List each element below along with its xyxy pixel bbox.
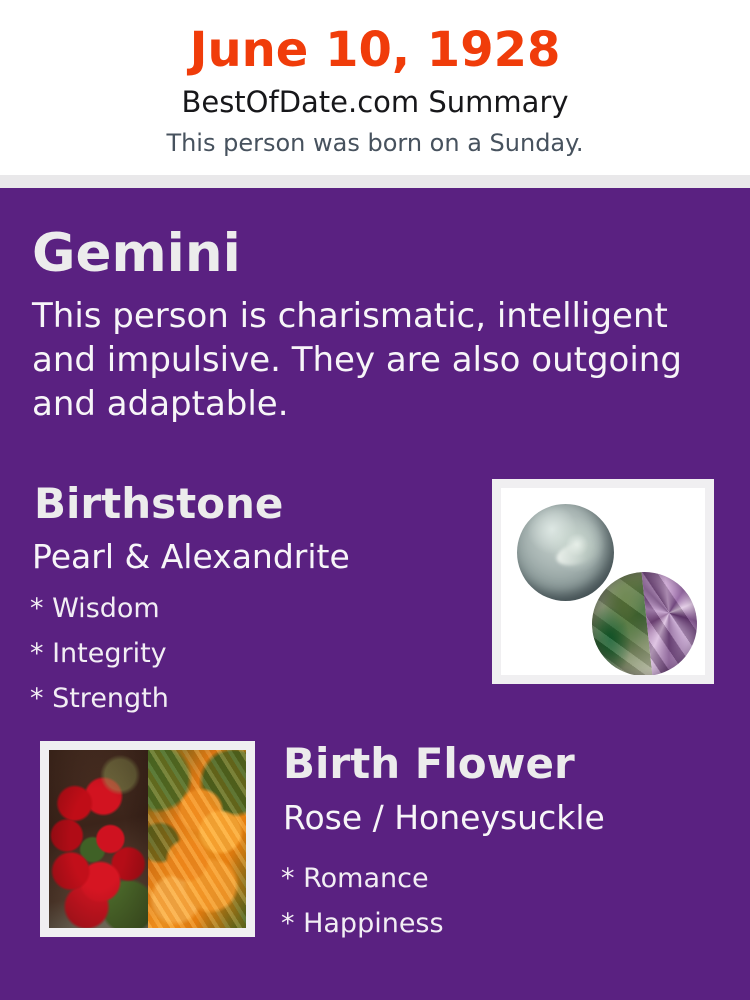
honeysuckle-photo xyxy=(148,750,247,928)
header: June 10, 1928 BestOfDate.com Summary Thi… xyxy=(0,0,750,175)
alexandrite-gem-icon xyxy=(587,567,702,675)
list-item: * Integrity xyxy=(30,631,169,676)
birthstone-value: Pearl & Alexandrite xyxy=(32,536,350,578)
born-day-text: This person was born on a Sunday. xyxy=(0,128,750,158)
birth-flower-value: Rose / Honeysuckle xyxy=(283,797,605,839)
zodiac-sign-title: Gemini xyxy=(32,222,241,286)
list-item: * Romance xyxy=(281,856,444,901)
birthstone-image xyxy=(501,488,705,675)
page-title-date: June 10, 1928 xyxy=(0,22,750,78)
birth-flower-image xyxy=(49,750,246,928)
list-item: * Happiness xyxy=(281,901,444,946)
birthstone-title: Birthstone xyxy=(34,479,283,529)
birthstone-image-frame xyxy=(492,479,714,684)
zodiac-description: This person is charismatic, intelligent … xyxy=(32,294,700,426)
list-item: * Strength xyxy=(30,676,169,721)
header-divider xyxy=(0,175,750,188)
summary-card: June 10, 1928 BestOfDate.com Summary Thi… xyxy=(0,0,750,1000)
red-roses-photo xyxy=(49,750,148,928)
site-name: BestOfDate.com Summary xyxy=(0,84,750,120)
birthstone-trait-list: * Wisdom * Integrity * Strength xyxy=(30,586,169,721)
birth-flower-trait-list: * Romance * Happiness xyxy=(281,856,444,946)
birth-flower-title: Birth Flower xyxy=(283,739,575,789)
list-item: * Wisdom xyxy=(30,586,169,631)
birth-flower-image-frame xyxy=(40,741,255,937)
